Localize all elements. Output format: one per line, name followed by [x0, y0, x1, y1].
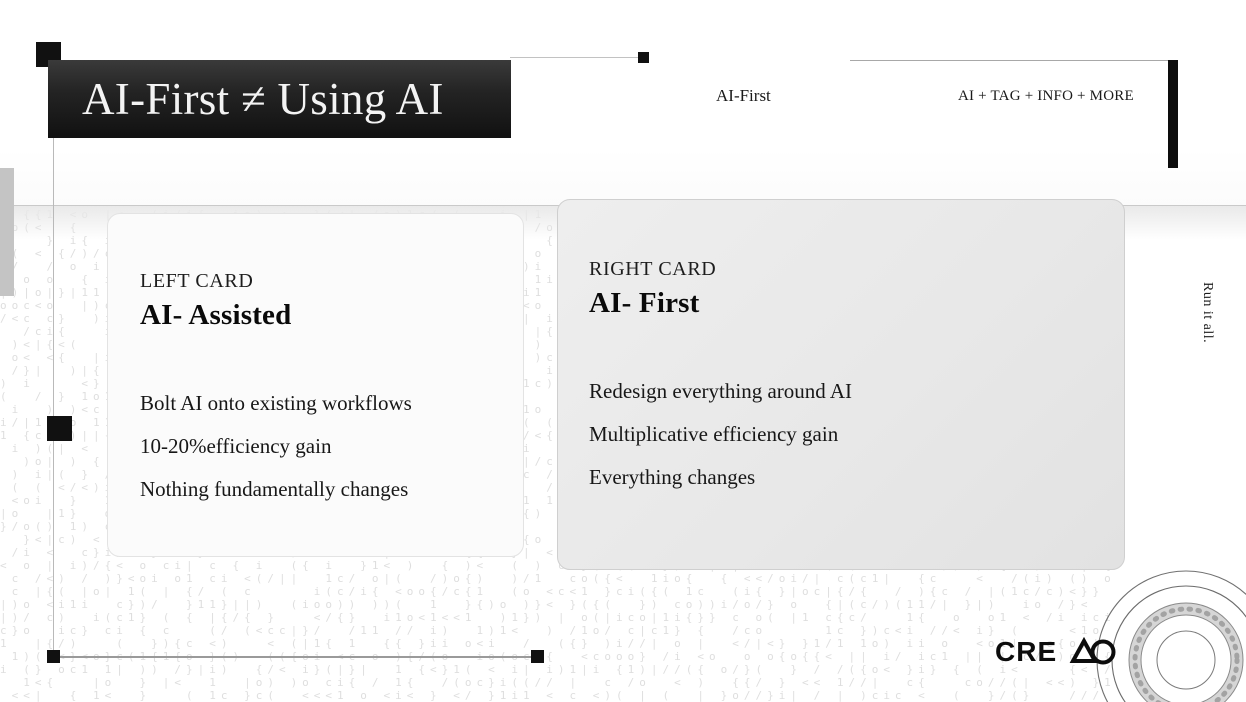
marker-square-top-center	[638, 52, 649, 63]
card-left-line-3: Nothing fundamentally changes	[140, 468, 523, 511]
card-right: RIGHT CARD AI- First Redesign everything…	[557, 199, 1125, 570]
left-edge-tab	[0, 168, 14, 296]
card-left-line-2: 10-20%efficiency gain	[140, 425, 523, 468]
title-band: AI-First ≠ Using AI	[48, 60, 511, 138]
frame-line-horizontal-top	[510, 57, 645, 58]
frame-line-horizontal-top-right	[850, 60, 1172, 61]
card-right-line-3: Everything changes	[589, 456, 1124, 499]
marker-square-mid-left	[47, 416, 72, 441]
marker-square-bottom-line-end	[531, 650, 544, 663]
card-left-lines: Bolt AI onto existing workflows 10-20%ef…	[140, 382, 523, 511]
card-left-line-1: Bolt AI onto existing workflows	[140, 382, 523, 425]
card-right-line-1: Redesign everything around AI	[589, 370, 1124, 413]
card-left: LEFT CARD AI- Assisted Bolt AI onto exis…	[107, 213, 524, 557]
vertical-note: Run it all.	[1199, 282, 1215, 343]
creao-logo-text: CRE	[995, 636, 1057, 668]
card-right-heading: AI- First	[589, 287, 1124, 320]
card-right-eyebrow: RIGHT CARD	[589, 258, 1124, 281]
card-left-eyebrow: LEFT CARD	[140, 270, 523, 293]
page-title: AI-First ≠ Using AI	[48, 73, 444, 125]
card-right-lines: Redesign everything around AI Multiplica…	[589, 370, 1124, 499]
card-left-content: LEFT CARD AI- Assisted Bolt AI onto exis…	[108, 214, 523, 511]
header-center-label: AI-First	[716, 86, 771, 106]
creao-logo-mark-icon	[1057, 637, 1119, 667]
card-left-heading: AI- Assisted	[140, 299, 523, 332]
slide-canvas: )(( { { i((1} 1 { (i)() } o/ 1 c ) <|}))…	[0, 0, 1246, 702]
accent-bar-right	[1168, 60, 1178, 168]
header-right-label: AI + TAG + INFO + MORE	[958, 88, 1134, 105]
card-right-content: RIGHT CARD AI- First Redesign everything…	[558, 200, 1124, 499]
concentric-rings-graphic	[1096, 568, 1246, 702]
frame-line-horizontal-bottom	[53, 656, 538, 658]
creao-logo: CRE	[995, 636, 1119, 668]
card-right-line-2: Multiplicative efficiency gain	[589, 413, 1124, 456]
marker-square-bottom-left	[47, 650, 60, 663]
